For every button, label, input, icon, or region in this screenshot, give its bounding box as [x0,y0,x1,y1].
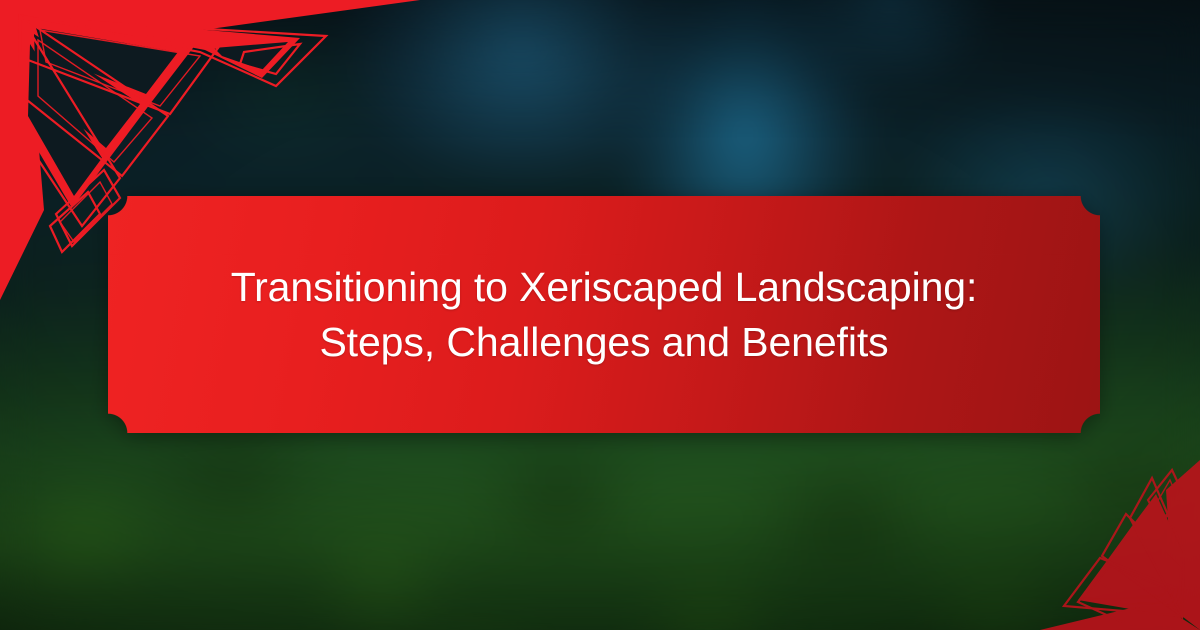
social-card: Transitioning to Xeriscaped Landscaping:… [0,0,1200,630]
title-banner-content: Transitioning to Xeriscaped Landscaping:… [108,196,1100,433]
title-banner: Transitioning to Xeriscaped Landscaping:… [108,196,1100,433]
page-title: Transitioning to Xeriscaped Landscaping:… [231,260,978,369]
